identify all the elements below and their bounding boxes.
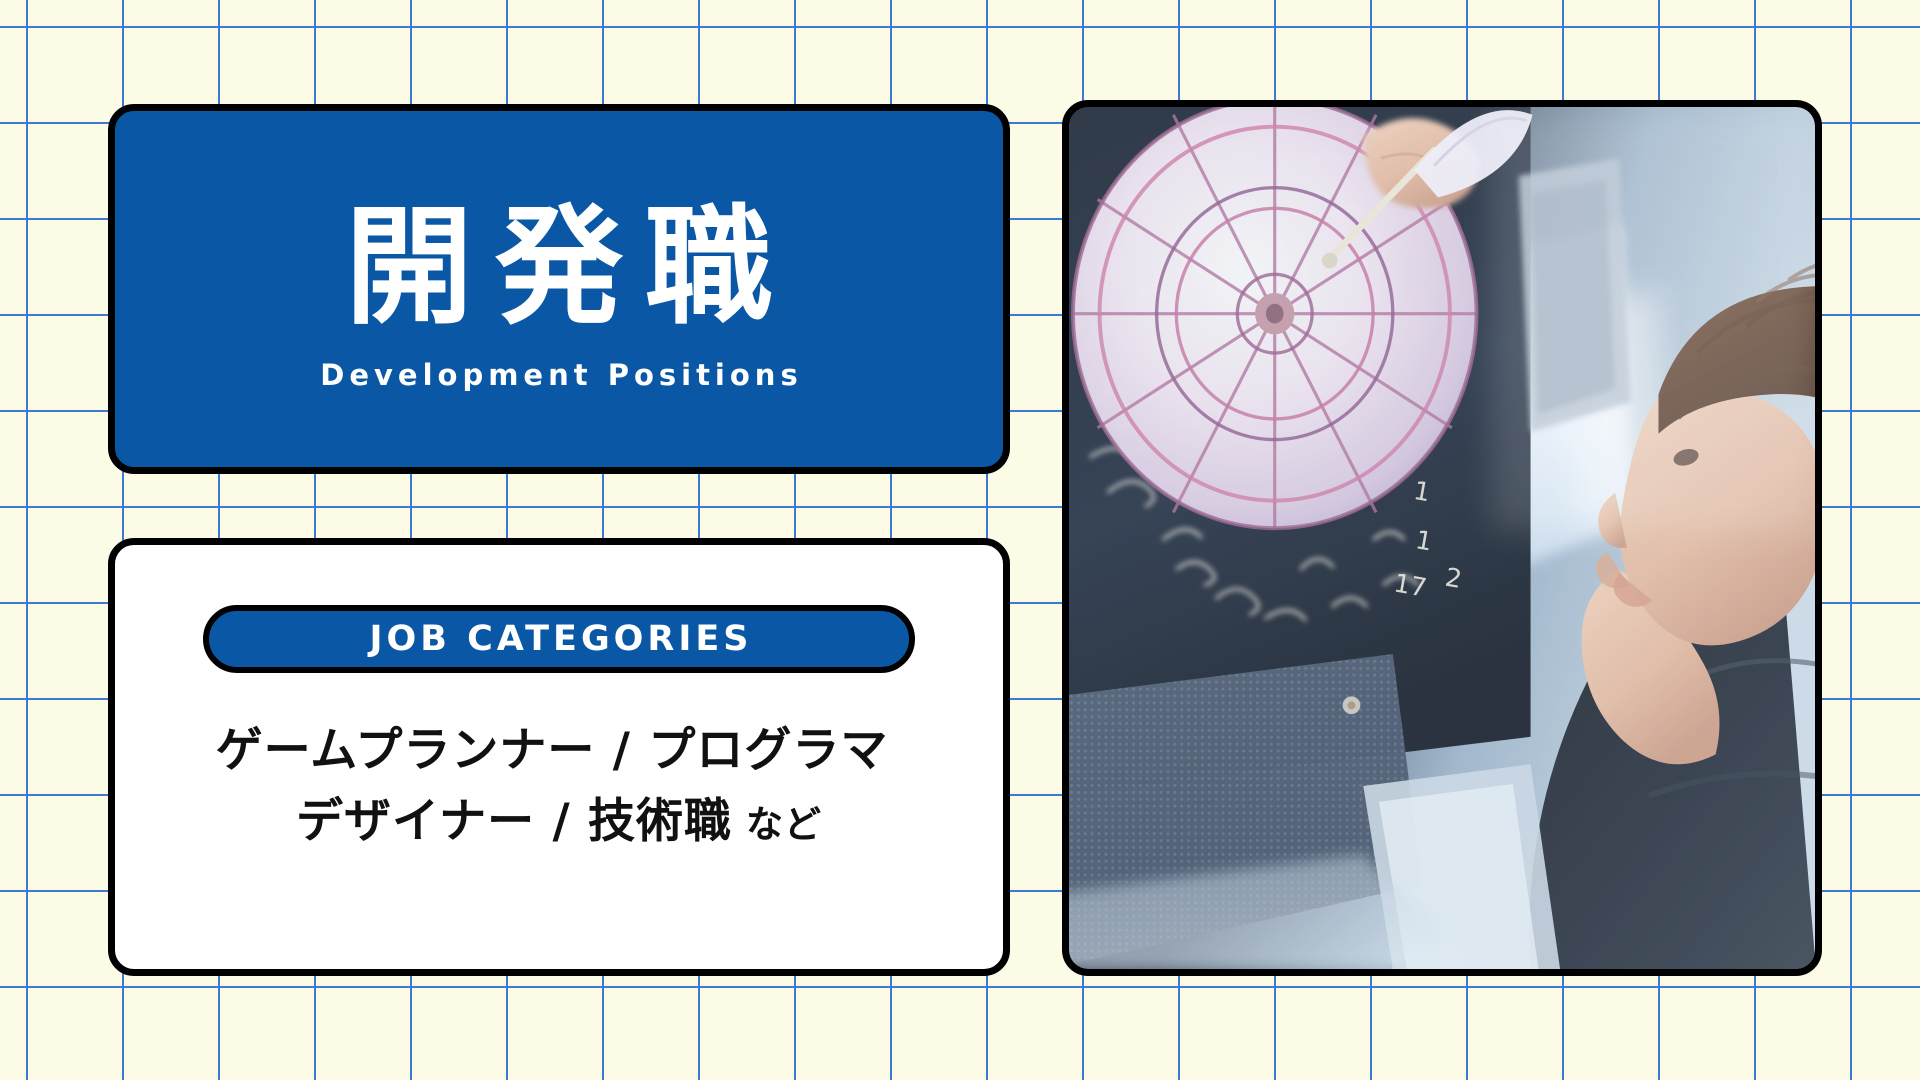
job-category-line: デザイナー / 技術職など <box>296 790 822 855</box>
title-card: 開発職 Development Positions <box>108 104 1010 474</box>
poster-canvas: 開発職 Development Positions JOB CATEGORIES… <box>0 0 1920 1080</box>
job-category-line: ゲームプランナー / プログラマ <box>216 719 903 784</box>
job-category-text: ゲームプランナー / プログラマ <box>216 723 889 778</box>
job-categories-card: JOB CATEGORIES ゲームプランナー / プログラマ デザイナー / … <box>108 538 1010 976</box>
page-title: 開発職 <box>323 196 795 339</box>
dart-player-photo: 1 1 17 2 <box>1069 107 1815 969</box>
job-categories-list: ゲームプランナー / プログラマ デザイナー / 技術職など <box>216 719 903 855</box>
job-categories-badge-label: JOB CATEGORIES <box>365 619 752 659</box>
page-subtitle: Development Positions <box>315 358 802 392</box>
job-category-suffix: など <box>746 803 822 846</box>
photo-frame: 1 1 17 2 <box>1062 100 1822 976</box>
job-categories-badge: JOB CATEGORIES <box>203 605 915 673</box>
job-category-text: デザイナー / 技術職 <box>296 794 732 849</box>
